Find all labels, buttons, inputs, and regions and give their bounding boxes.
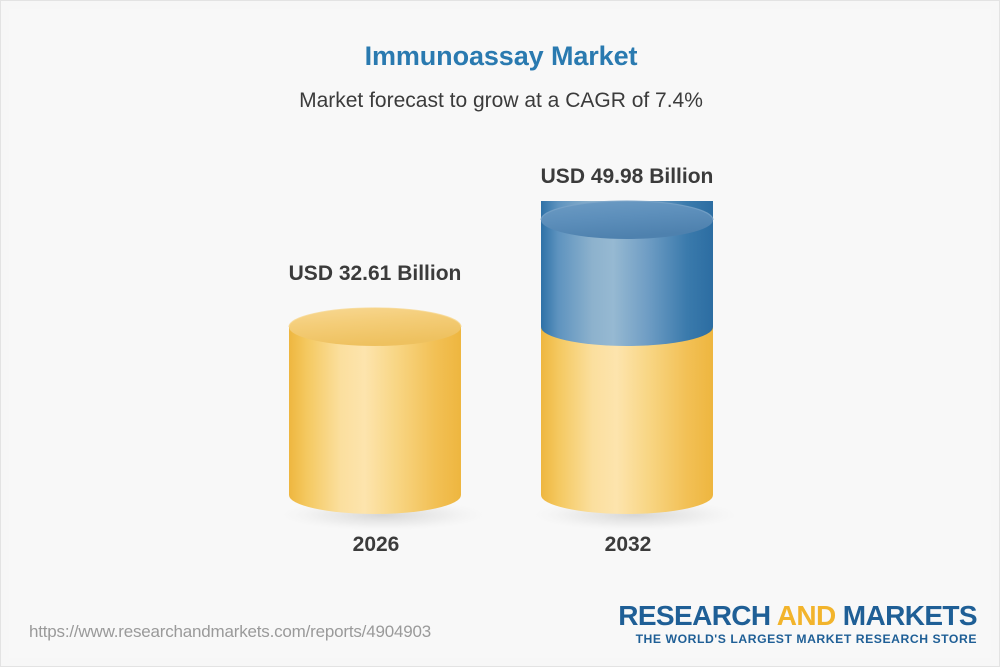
chart-plot-area: USD 32.61 Billion USD 49.98 Billion 2026…: [1, 1, 1000, 667]
value-label-2032: USD 49.98 Billion: [527, 165, 727, 189]
bar-2032-growth-cap: [541, 301, 713, 346]
chart-canvas: Immunoassay Market Market forecast to gr…: [0, 0, 1000, 667]
logo-word-and: AND: [777, 600, 836, 631]
bar-2026[interactable]: [289, 308, 461, 514]
logo-word-markets: MARKETS: [836, 600, 977, 631]
research-and-markets-logo[interactable]: RESEARCH AND MARKETS THE WORLD'S LARGEST…: [618, 601, 977, 647]
category-label-2026: 2026: [290, 533, 462, 557]
bar-2032[interactable]: [541, 201, 713, 514]
source-url[interactable]: https://www.researchandmarkets.com/repor…: [29, 622, 431, 642]
logo-tagline: THE WORLD'S LARGEST MARKET RESEARCH STOR…: [618, 632, 977, 647]
category-label-2032: 2032: [542, 533, 714, 557]
logo-word-research: RESEARCH: [618, 600, 776, 631]
logo-wordmark: RESEARCH AND MARKETS: [618, 601, 977, 630]
cylinder-bar-chart: [1, 1, 1000, 667]
bar-2026-body: [289, 327, 461, 514]
value-label-2026: USD 32.61 Billion: [275, 262, 475, 286]
